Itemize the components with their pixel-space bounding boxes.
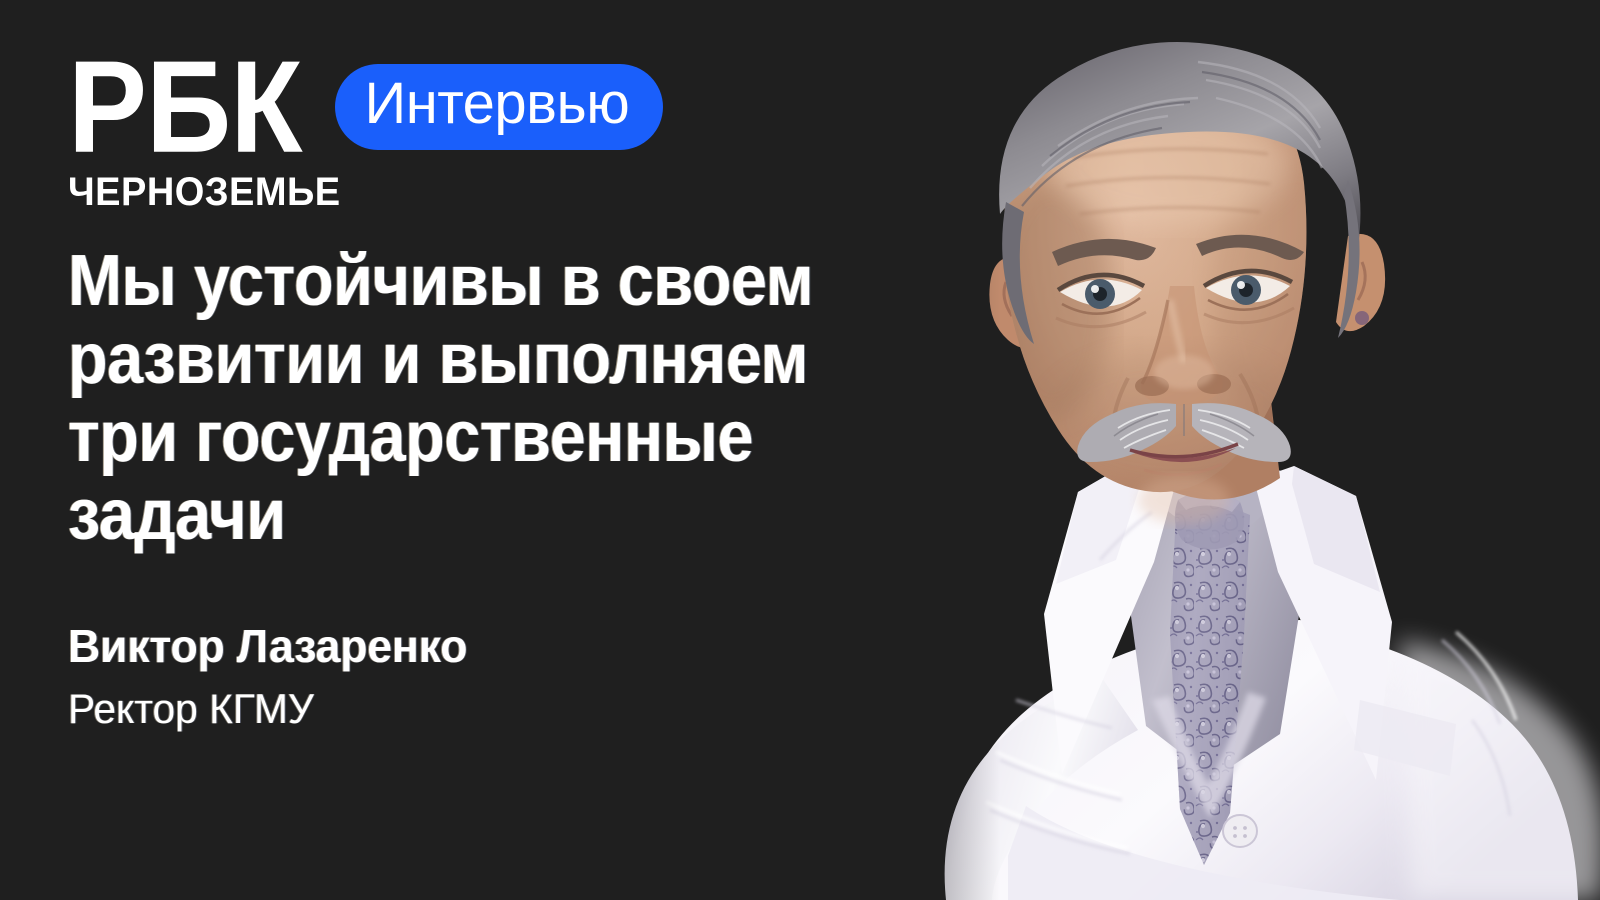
rbc-wordmark: РБК (68, 41, 302, 172)
interview-badge-label: Интервью (365, 75, 630, 133)
speaker-block: Виктор Лазаренко Ректор КГМУ (68, 618, 480, 734)
speaker-name: Виктор Лазаренко (68, 618, 467, 674)
region-subbrand: ЧЕРНОЗЕМЬЕ (68, 172, 633, 212)
headline-line-2: развитии и выполняем (68, 320, 914, 398)
head (980, 42, 1400, 524)
speaker-role: Ректор КГМУ (68, 684, 467, 734)
rbc-logo-block: РБК Интервью ЧЕРНОЗЕМЬЕ (68, 52, 663, 212)
headline-line-1: Мы устойчивы в своем (68, 242, 914, 320)
logo-row: РБК Интервью (68, 52, 663, 162)
headline-line-4: задачи (68, 476, 914, 554)
interview-card: РБК Интервью ЧЕРНОЗЕМЬЕ Мы устойчивы в с… (0, 0, 1600, 900)
headline: Мы устойчивы в своем развитии и выполняе… (68, 242, 1008, 554)
headline-line-3: три государственные (68, 398, 914, 476)
interview-badge: Интервью (335, 64, 664, 150)
